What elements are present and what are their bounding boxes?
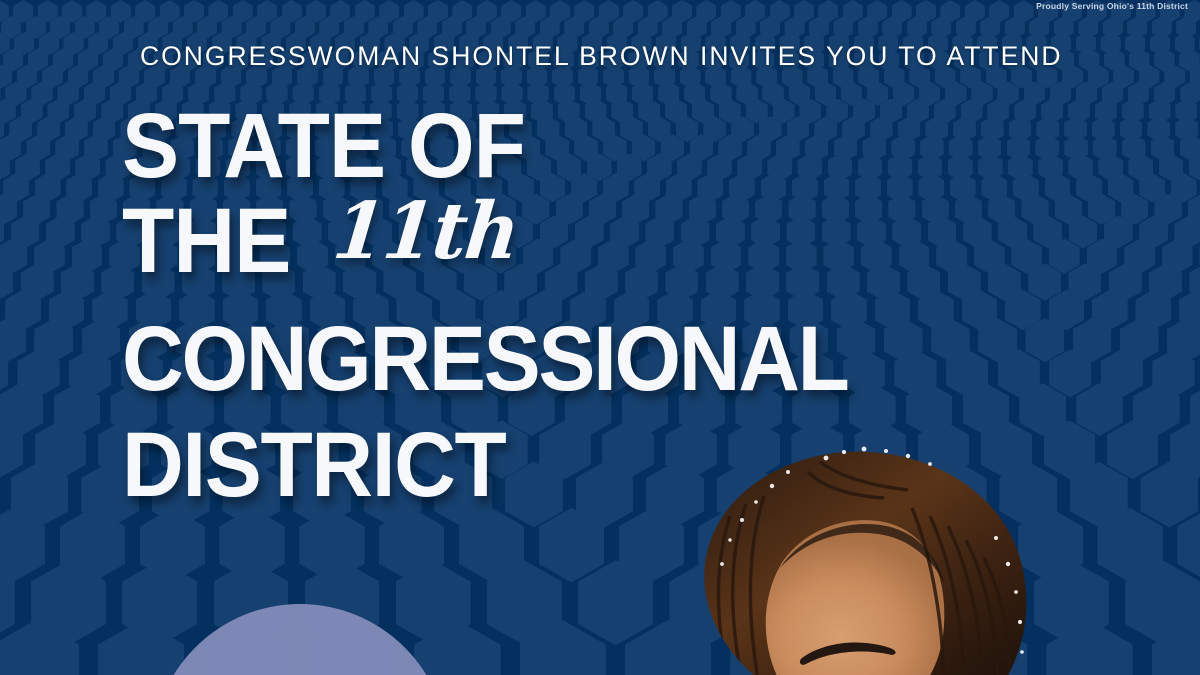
headline-line-4: DISTRICT bbox=[122, 423, 505, 508]
tagline: Proudly Serving Ohio's 11th District bbox=[1036, 1, 1188, 11]
eyebrow-invitation-line: CONGRESSWOMAN SHONTEL BROWN INVITES YOU … bbox=[140, 41, 1063, 72]
periwinkle-circle bbox=[152, 604, 448, 675]
headline-ordinal-script: 11th bbox=[329, 186, 522, 277]
page-title: STATE OF THE 11th CONGRESSIONAL DISTRICT bbox=[122, 104, 1062, 508]
headline-line-2: THE bbox=[122, 199, 290, 284]
headline-line-3: CONGRESSIONAL bbox=[122, 317, 848, 402]
headline-line-1: STATE OF bbox=[122, 104, 525, 189]
event-poster: Proudly Serving Ohio's 11th District CON… bbox=[0, 0, 1200, 675]
